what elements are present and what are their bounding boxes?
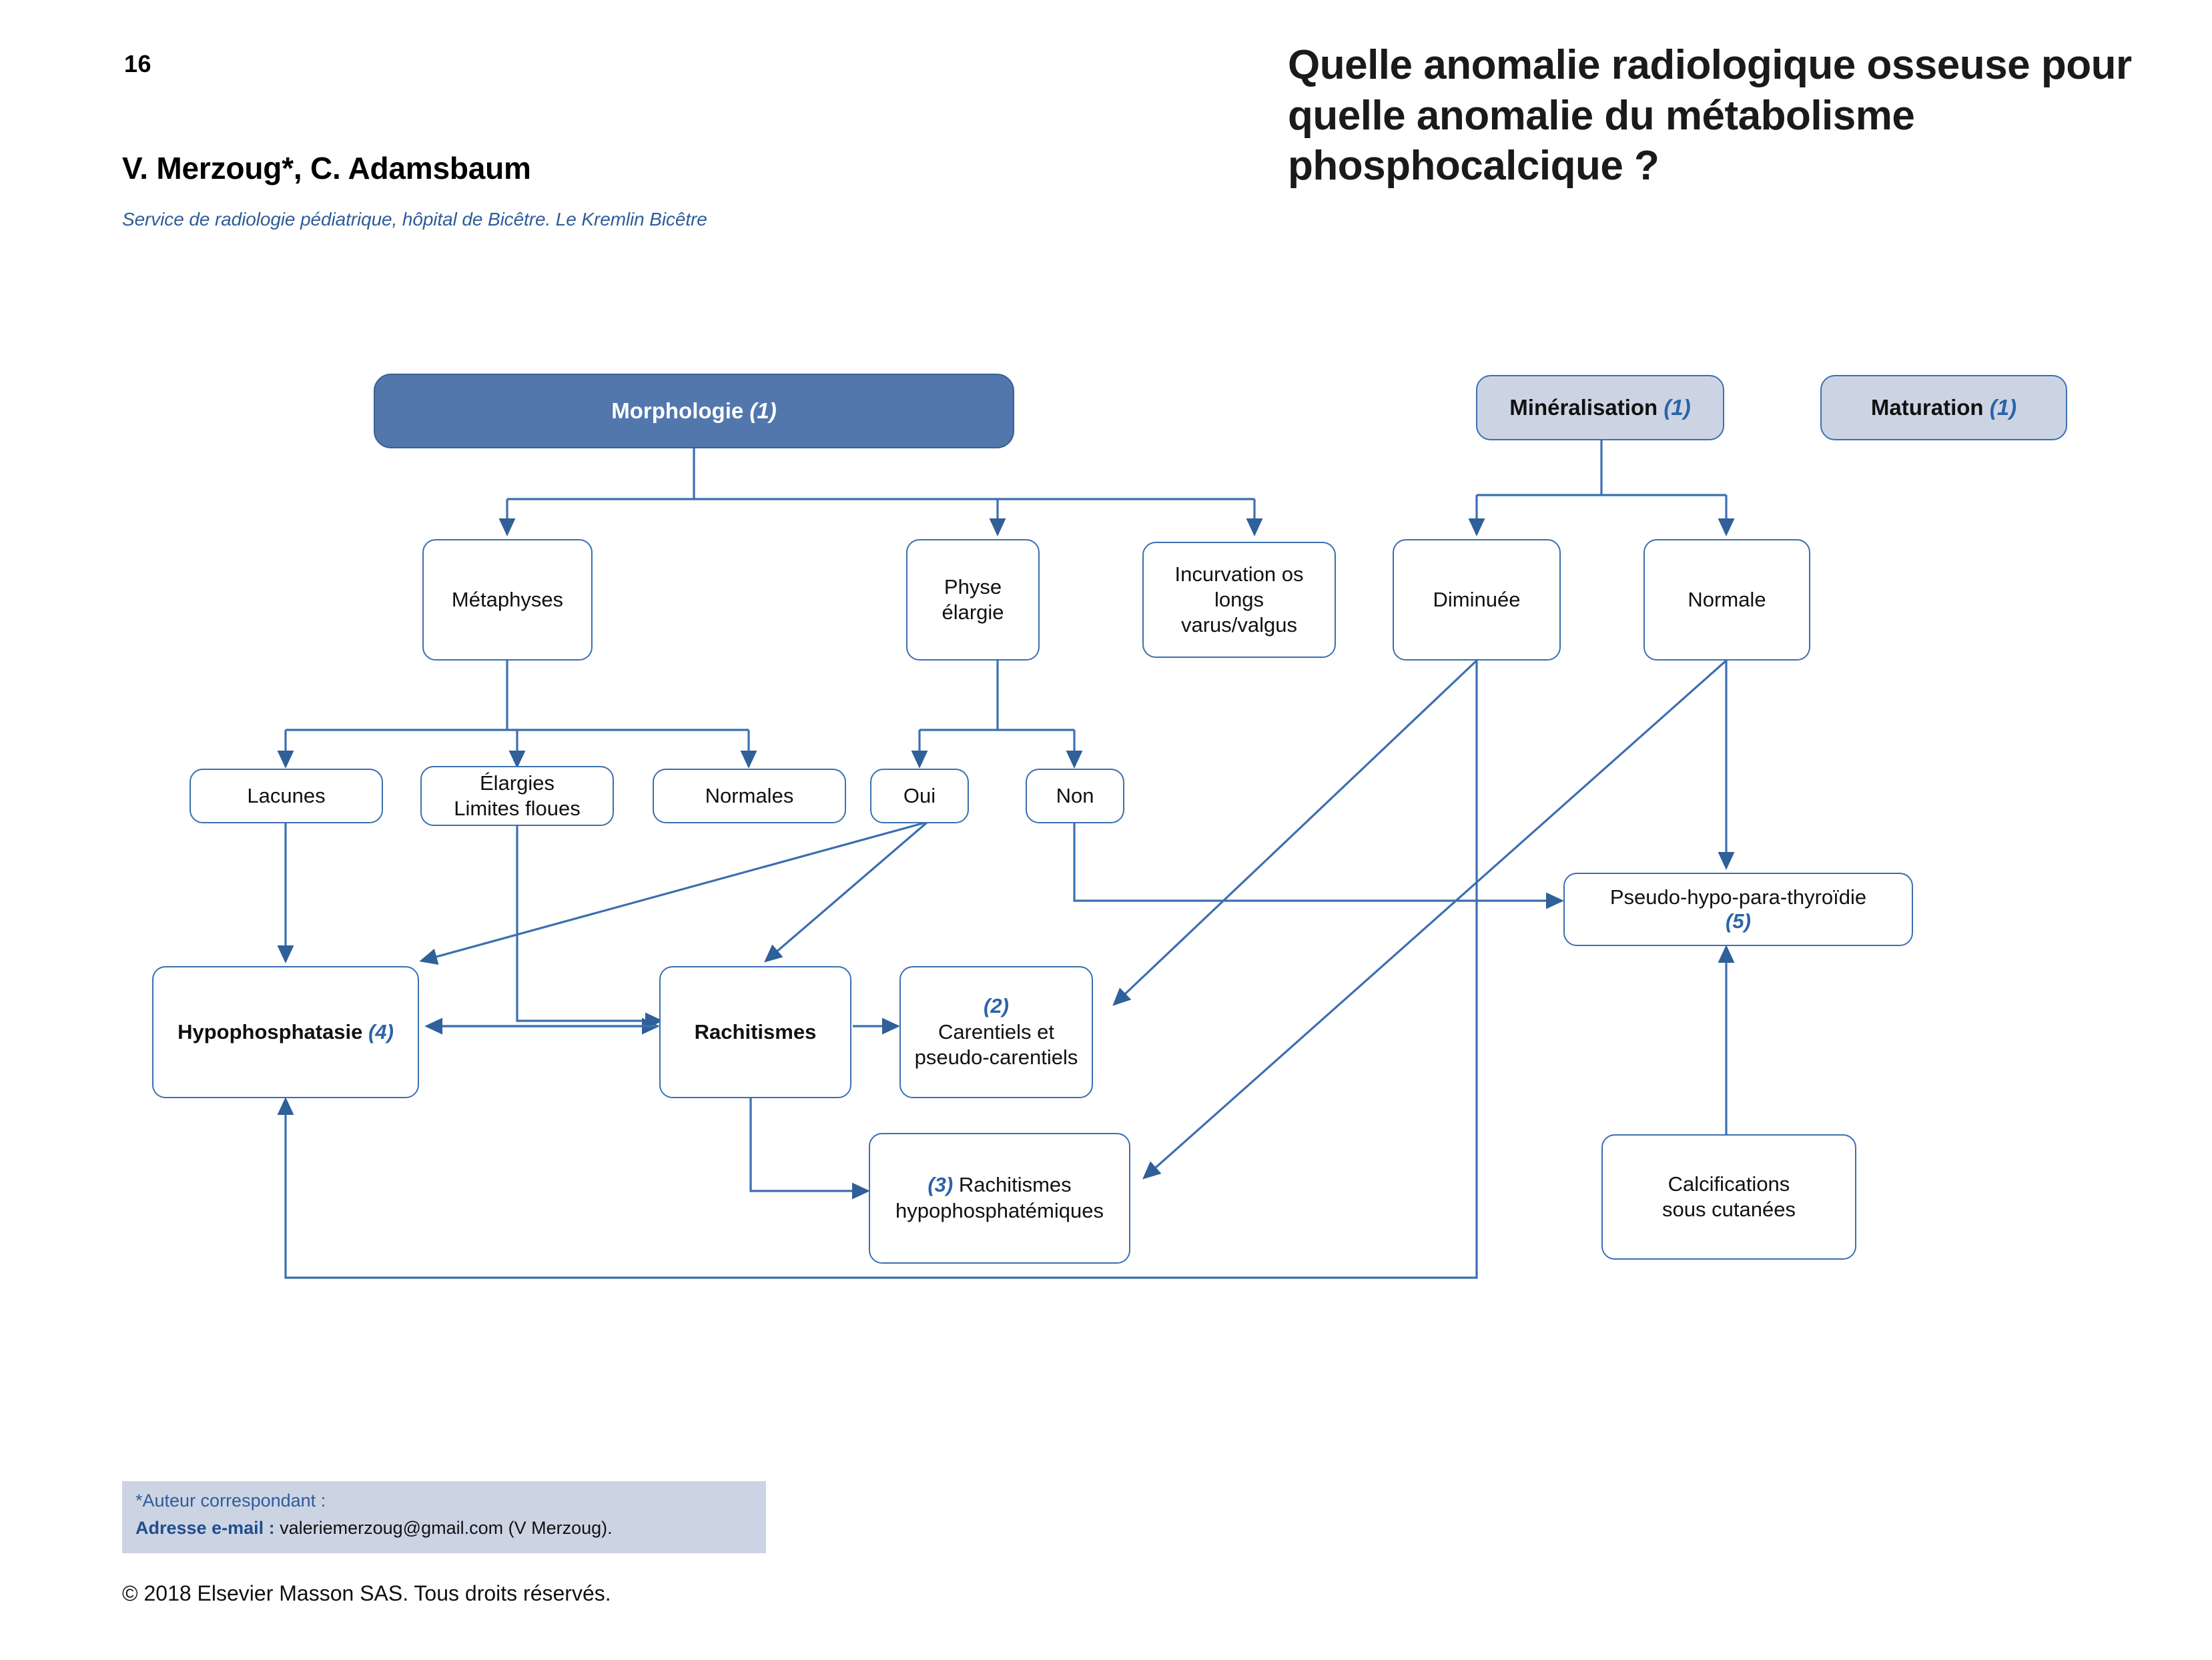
node-ref: (4)	[368, 1019, 394, 1045]
corresponding-author-label: *Auteur correspondant :	[135, 1491, 326, 1511]
flow-connectors	[0, 0, 2212, 1660]
node-label: Normales	[705, 783, 794, 809]
email-line: Adresse e-mail : valeriemerzoug@gmail.co…	[135, 1518, 613, 1539]
node-diminuee[interactable]: Diminuée	[1393, 539, 1561, 661]
node-lacunes[interactable]: Lacunes	[190, 769, 383, 823]
page-number: 16	[124, 50, 151, 78]
node-rachitismes-hypophosphatemiques[interactable]: (3) Rachitismes hypophosphatémiques	[869, 1133, 1130, 1264]
node-label: Maturation	[1871, 394, 1984, 421]
node-physe-elargie[interactable]: Physe élargie	[906, 539, 1040, 661]
node-label: Élargies Limites floues	[454, 771, 581, 821]
node-calcifications-sous-cutanees[interactable]: Calcifications sous cutanées	[1601, 1134, 1856, 1260]
node-carentiels-pseudo-carentiels[interactable]: (2) Carentiels et pseudo-carentiels	[899, 966, 1093, 1098]
node-pseudo-hypo-para-thyroidie[interactable]: Pseudo-hypo-para-thyroïdie (5)	[1563, 873, 1913, 946]
node-normales[interactable]: Normales	[653, 769, 846, 823]
node-incurvation-os-longs[interactable]: Incurvation os longs varus/valgus	[1142, 542, 1336, 658]
node-label: Morphologie	[611, 398, 743, 424]
node-label: Rachitismes	[695, 1019, 817, 1045]
node-ref: (1)	[1664, 394, 1690, 421]
node-morphologie[interactable]: Morphologie (1)	[374, 374, 1014, 448]
node-mineralisation[interactable]: Minéralisation (1)	[1476, 375, 1724, 440]
corresponding-author-box: *Auteur correspondant : Adresse e-mail :…	[122, 1481, 766, 1553]
node-ref: (1)	[1990, 394, 2016, 421]
node-label: Minéralisation	[1509, 394, 1657, 421]
page-title: Quelle anomalie radiologique osseuse pou…	[1288, 40, 2149, 191]
node-ref-inline: (3) Rachitismes hypophosphatémiques	[895, 1172, 1104, 1224]
email-label: Adresse e-mail :	[135, 1518, 275, 1538]
node-non[interactable]: Non	[1026, 769, 1124, 823]
node-rachitismes[interactable]: Rachitismes	[659, 966, 851, 1098]
copyright-line: © 2018 Elsevier Masson SAS. Tous droits …	[122, 1581, 611, 1606]
node-label: Physe élargie	[942, 574, 1004, 625]
node-hypophosphatasie[interactable]: Hypophosphatasie (4)	[152, 966, 419, 1098]
node-metaphyses[interactable]: Métaphyses	[422, 539, 593, 661]
node-label: Hypophosphatasie	[177, 1019, 362, 1045]
node-label: Oui	[903, 783, 936, 809]
node-maturation[interactable]: Maturation (1)	[1820, 375, 2067, 440]
node-ref: (1)	[749, 398, 776, 424]
affiliation-line: Service de radiologie pédiatrique, hôpit…	[122, 209, 707, 230]
node-ref: (2)	[984, 993, 1009, 1019]
node-label: Diminuée	[1433, 587, 1521, 612]
node-label: Non	[1056, 783, 1094, 809]
node-ref: (5)	[1726, 909, 1751, 933]
node-label: Lacunes	[247, 783, 325, 809]
article-page: 16 V. Merzoug*, C. Adamsbaum Service de …	[0, 0, 2212, 1660]
node-label: Carentiels et pseudo-carentiels	[915, 1019, 1078, 1072]
email-value: valeriemerzoug@gmail.com (V Merzoug).	[275, 1518, 613, 1538]
node-label: Pseudo-hypo-para-thyroïdie	[1610, 885, 1866, 909]
node-oui[interactable]: Oui	[870, 769, 969, 823]
node-normale[interactable]: Normale	[1643, 539, 1810, 661]
node-label: Normale	[1688, 587, 1766, 612]
node-label: Calcifications sous cutanées	[1662, 1172, 1796, 1222]
node-label: Incurvation os longs varus/valgus	[1175, 562, 1304, 637]
node-label: Métaphyses	[452, 587, 563, 612]
authors-line: V. Merzoug*, C. Adamsbaum	[122, 150, 531, 186]
node-elargies-limites-floues[interactable]: Élargies Limites floues	[420, 766, 614, 826]
